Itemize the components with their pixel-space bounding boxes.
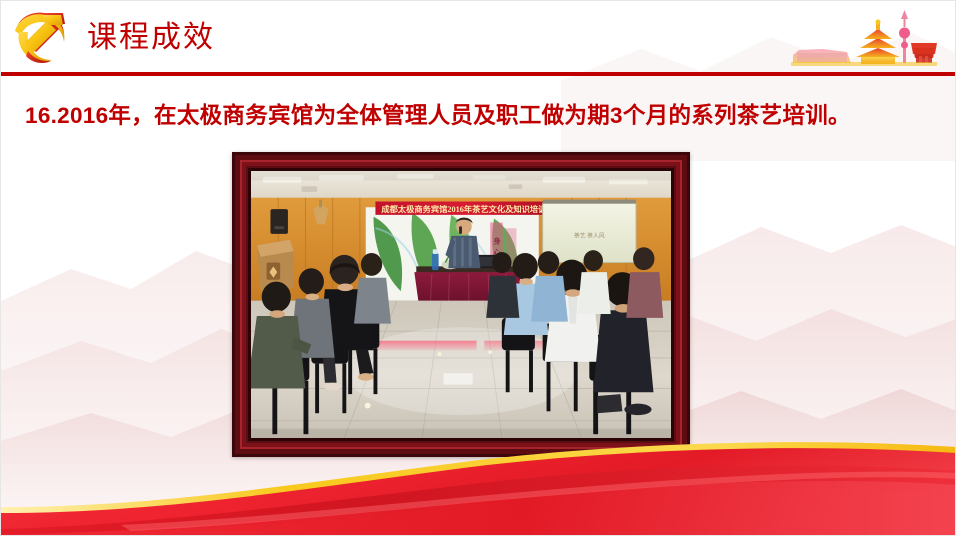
header-divider — [1, 72, 956, 76]
svg-text:身: 身 — [493, 236, 501, 246]
svg-text:成都太极商务宾馆2016年茶艺文化及知识培训: 成都太极商务宾馆2016年茶艺文化及知识培训 — [381, 204, 546, 214]
photo-frame-inner-bevel-outer: 身 心 修 养 成都太极商务宾馆2016年茶艺文化及知识培训 茶艺 茶人风 — [240, 160, 682, 449]
china-landmarks-watercolor-icon — [789, 7, 939, 69]
party-emblem-hammer-sickle-icon — [7, 5, 75, 69]
page-title: 课程成效 — [87, 19, 215, 57]
photo-frame-inner-bevel-inner: 身 心 修 养 成都太极商务宾馆2016年茶艺文化及知识培训 茶艺 茶人风 — [246, 166, 676, 443]
slide-body-text: 16.2016年，在太极商务宾馆为全体管理人员及职工做为期3个月的系列茶艺培训。 — [25, 99, 935, 133]
slide-header: 课程成效 — [1, 1, 956, 77]
training-photo: 身 心 修 养 成都太极商务宾馆2016年茶艺文化及知识培训 茶艺 茶人风 — [251, 171, 671, 438]
presentation-slide: 课程成效 — [0, 0, 956, 536]
svg-text:茶艺 茶人风: 茶艺 茶人风 — [574, 232, 605, 240]
photo-frame: 身 心 修 养 成都太极商务宾馆2016年茶艺文化及知识培训 茶艺 茶人风 — [232, 152, 690, 457]
